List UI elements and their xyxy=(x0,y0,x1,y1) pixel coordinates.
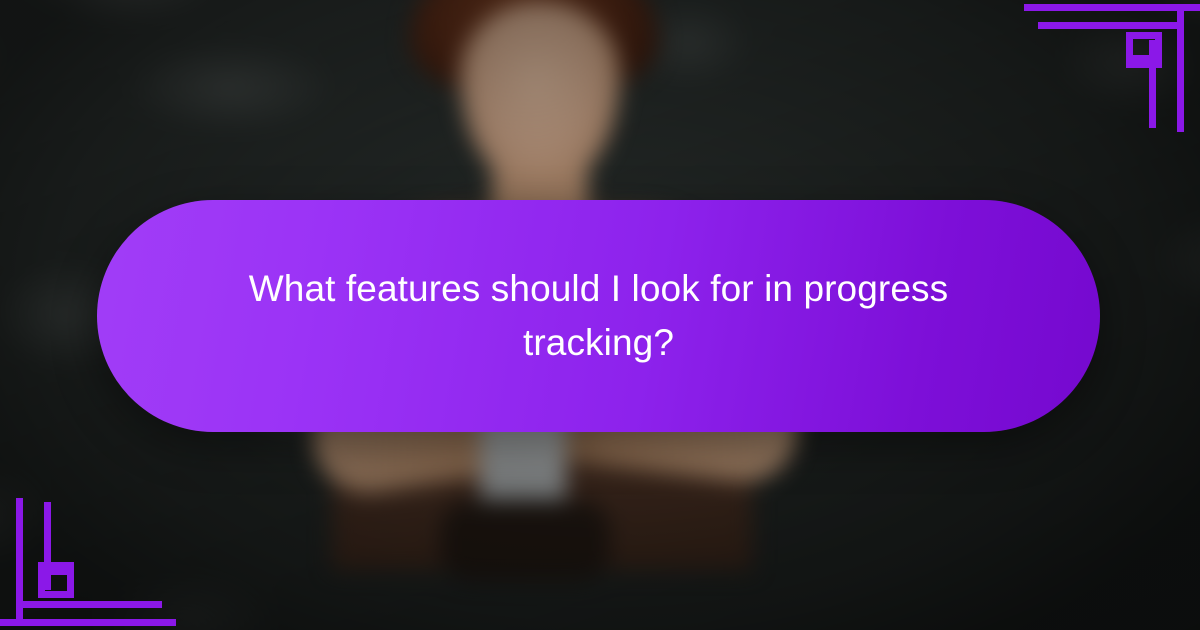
question-card-stage: What features should I look for in progr… xyxy=(0,0,1200,630)
deco-square-outline xyxy=(1126,32,1162,68)
deco-vertical-bar-outer xyxy=(16,498,23,626)
deco-horizontal-bar-outer xyxy=(1024,4,1200,11)
question-text: What features should I look for in progr… xyxy=(229,262,969,371)
deco-connector-bar xyxy=(38,568,68,575)
deco-connector-bar xyxy=(1132,55,1162,62)
deco-vertical-bar-outer xyxy=(1177,4,1184,132)
deco-horizontal-bar-inner xyxy=(16,601,162,608)
question-card: What features should I look for in progr… xyxy=(97,200,1100,432)
deco-horizontal-bar-inner xyxy=(1038,22,1184,29)
deco-horizontal-bar-outer xyxy=(0,619,176,626)
